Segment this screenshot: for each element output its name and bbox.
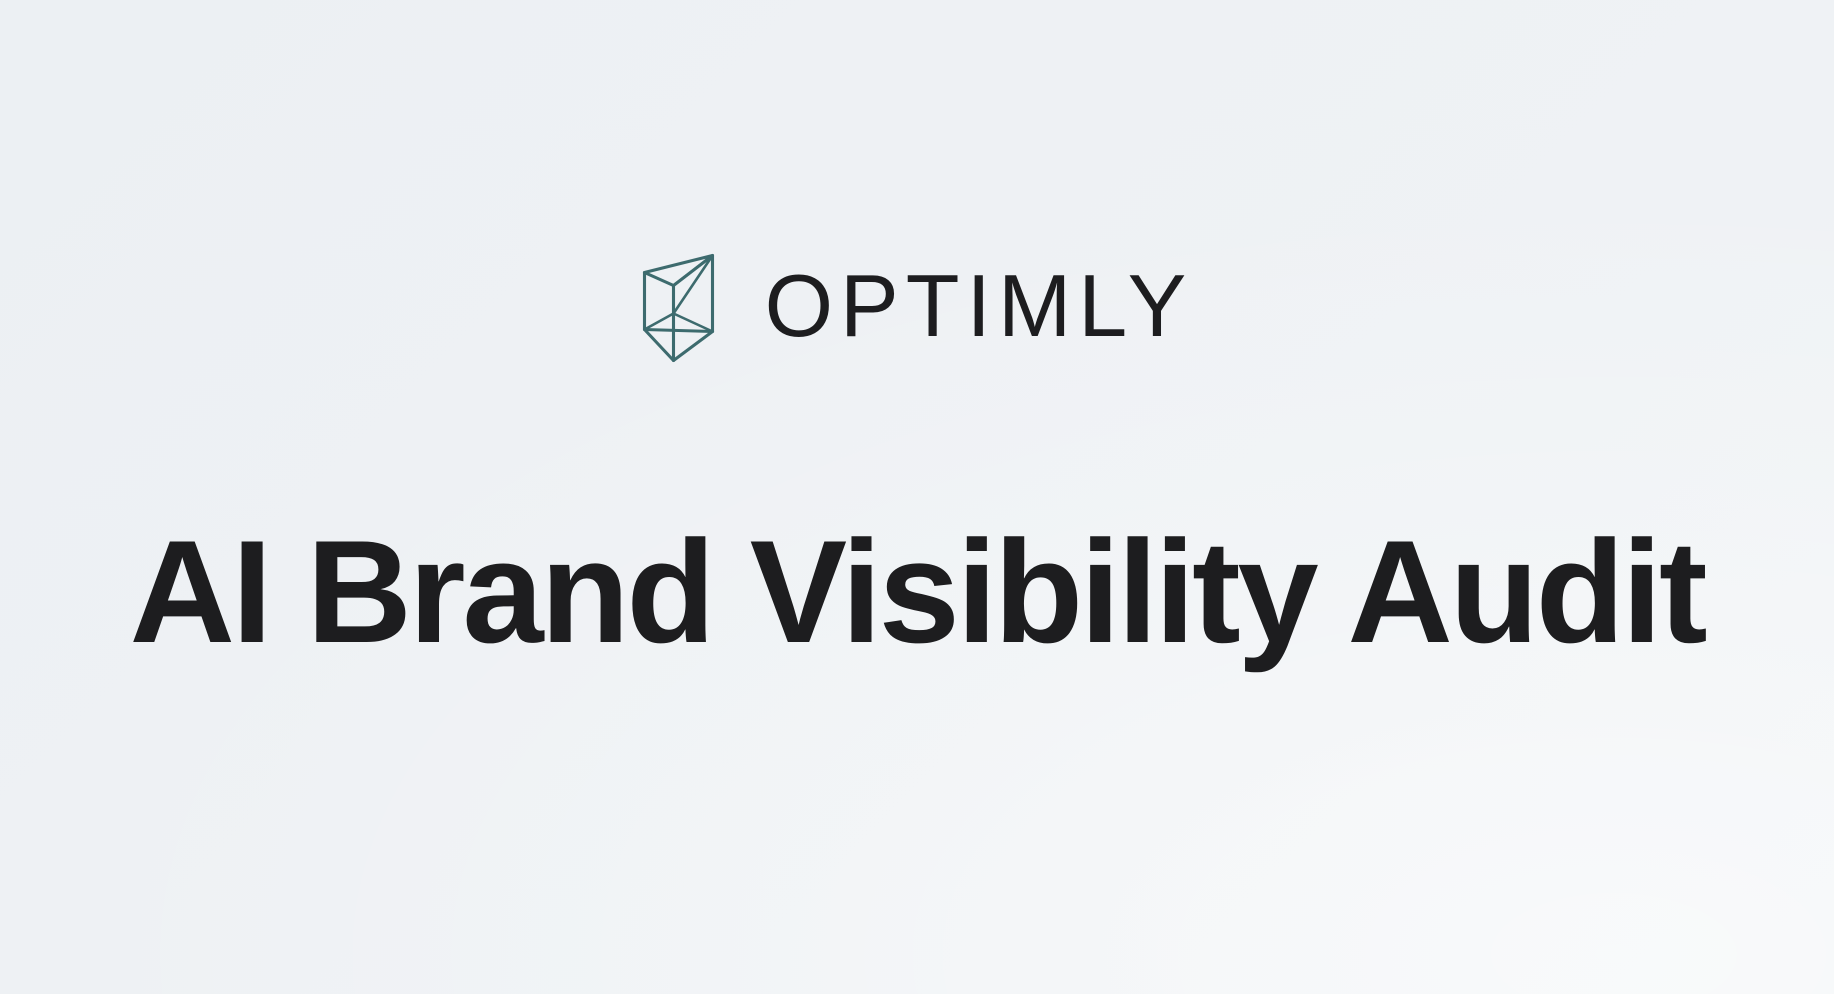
brand-lockup: OPTIMLY — [0, 248, 1834, 368]
title-slide: OPTIMLY AI Brand Visibility Audit — [0, 0, 1834, 994]
page-title: AI Brand Visibility Audit — [0, 414, 1834, 770]
brand-wordmark: OPTIMLY — [765, 262, 1194, 350]
triangular-prism-wireframe-logo-icon — [641, 252, 719, 364]
page-title-text: AI Brand Visibility Audit — [130, 512, 1705, 673]
